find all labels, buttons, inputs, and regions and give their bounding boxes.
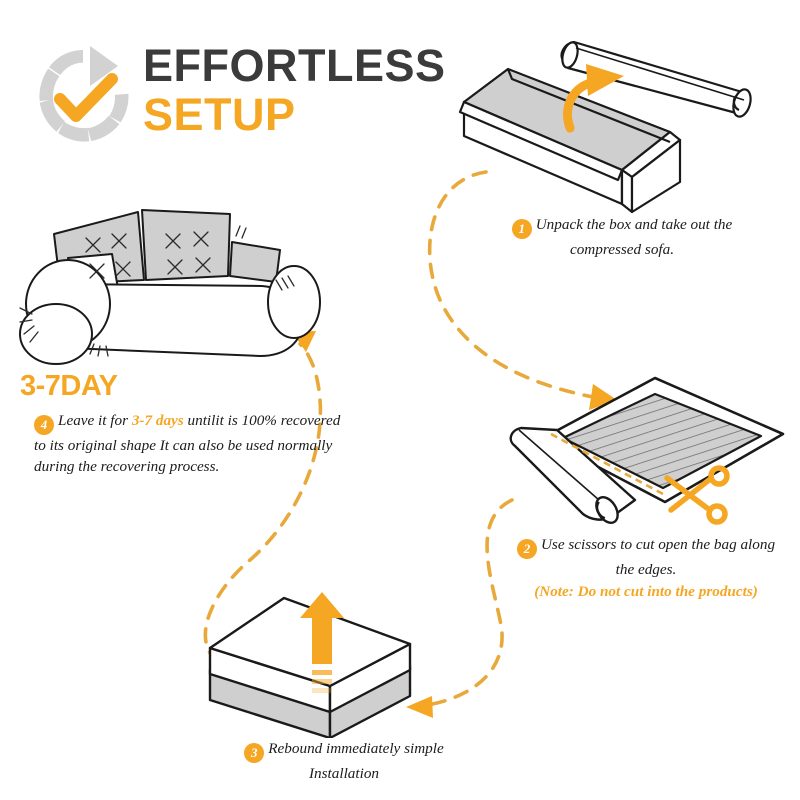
step-1-caption: 1Unpack the box and take out the compres… xyxy=(462,214,782,260)
step-2-note: (Note: Do not cut into the products) xyxy=(492,581,800,602)
step-2-badge: 2 xyxy=(517,539,537,559)
title-line-main: EFFORTLESS xyxy=(143,41,453,90)
header: EFFORTLESS SETUP xyxy=(30,38,450,153)
page-title: EFFORTLESS SETUP xyxy=(143,41,453,139)
illustration-finished-sofa xyxy=(8,176,338,368)
day-label: 3-7DAY xyxy=(20,370,350,402)
illustration-foam-block-expanding xyxy=(188,578,440,738)
step-2-line1: Use scissors to cut open the bag along xyxy=(541,536,775,553)
step-2-caption: 2Use scissors to cut open the bag along … xyxy=(492,534,800,602)
refresh-check-icon xyxy=(32,44,134,146)
step-2-text: 2Use scissors to cut open the bag along … xyxy=(492,534,800,602)
step-1-line1: Unpack the box and take out the xyxy=(536,216,733,233)
step-1-badge: 1 xyxy=(512,219,532,239)
step-3-line2: Installation xyxy=(309,765,379,782)
step-4-caption: 3-7DAY 4Leave it for 3-7 days untilit is… xyxy=(20,370,350,477)
step-1-line2: compressed sofa. xyxy=(570,241,674,258)
step-1-text: 1Unpack the box and take out the compres… xyxy=(462,214,782,260)
infographic-page: EFFORTLESS SETUP xyxy=(0,0,800,800)
illustration-box-with-rolled-sofa xyxy=(452,24,797,214)
step-4-badge: 4 xyxy=(34,415,54,435)
step-3-badge: 3 xyxy=(244,743,264,763)
step-3-caption: 3Rebound immediately simple Installation xyxy=(198,738,490,784)
step-3-line1: Rebound immediately simple xyxy=(268,740,443,757)
step-2-line2: the edges. xyxy=(616,561,677,578)
illustration-vacuum-bag-with-scissors xyxy=(495,368,800,540)
title-line-sub: SETUP xyxy=(143,90,453,139)
step-3-text: 3Rebound immediately simple Installation xyxy=(198,738,490,784)
step-4-text: 4Leave it for 3-7 days untilit is 100% r… xyxy=(34,410,350,477)
step-4-highlight: 3-7 days xyxy=(132,412,184,429)
step-4-text-part1: Leave it for xyxy=(58,412,132,429)
